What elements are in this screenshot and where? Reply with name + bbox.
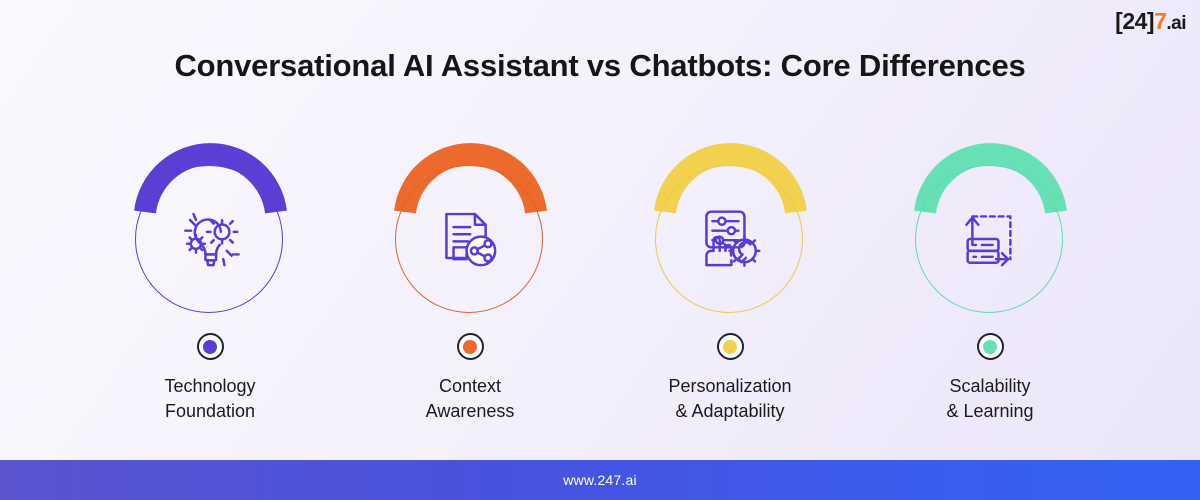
feature-column-personalization-adaptability: Personalization & Adaptability [620, 138, 840, 424]
bullet-marker-scalability-learning [977, 333, 1004, 360]
sliders-hand-gear-icon [655, 165, 803, 313]
document-share-icon [395, 165, 543, 313]
bullet-marker-technology-foundation [197, 333, 224, 360]
logo-suffix-text: .ai [1166, 13, 1186, 34]
server-scale-arrows-icon [915, 165, 1063, 313]
icon-circle-technology-foundation [123, 138, 298, 313]
bullet-marker-context-awareness [457, 333, 484, 360]
brand-logo: [24]7.ai [1115, 10, 1186, 33]
bullet-dot [203, 340, 217, 354]
footer-bar: www.247.ai [0, 460, 1200, 500]
feature-column-context-awareness: Context Awareness [360, 138, 580, 424]
bullet-dot [463, 340, 477, 354]
feature-label-technology-foundation: Technology Foundation [164, 374, 255, 424]
logo-seven-text: 7 [1154, 8, 1166, 34]
infographic-canvas: [24]7.ai Conversational AI Assistant vs … [0, 0, 1200, 500]
feature-label-context-awareness: Context Awareness [426, 374, 515, 424]
feature-column-scalability-learning: Scalability & Learning [880, 138, 1100, 424]
bullet-marker-personalization-adaptability [717, 333, 744, 360]
lightbulb-gears-icon [135, 165, 283, 313]
footer-url-text[interactable]: www.247.ai [563, 472, 637, 488]
feature-label-personalization-adaptability: Personalization & Adaptability [668, 374, 791, 424]
icon-circle-context-awareness [383, 138, 558, 313]
bullet-dot [723, 340, 737, 354]
page-title: Conversational AI Assistant vs Chatbots:… [0, 48, 1200, 84]
feature-label-scalability-learning: Scalability & Learning [946, 374, 1033, 424]
logo-bracket-text: [24] [1115, 8, 1154, 34]
bullet-dot [983, 340, 997, 354]
feature-column-technology-foundation: Technology Foundation [100, 138, 320, 424]
icon-circle-personalization-adaptability [643, 138, 818, 313]
feature-columns: Technology Foundation [100, 138, 1100, 424]
icon-circle-scalability-learning [903, 138, 1078, 313]
